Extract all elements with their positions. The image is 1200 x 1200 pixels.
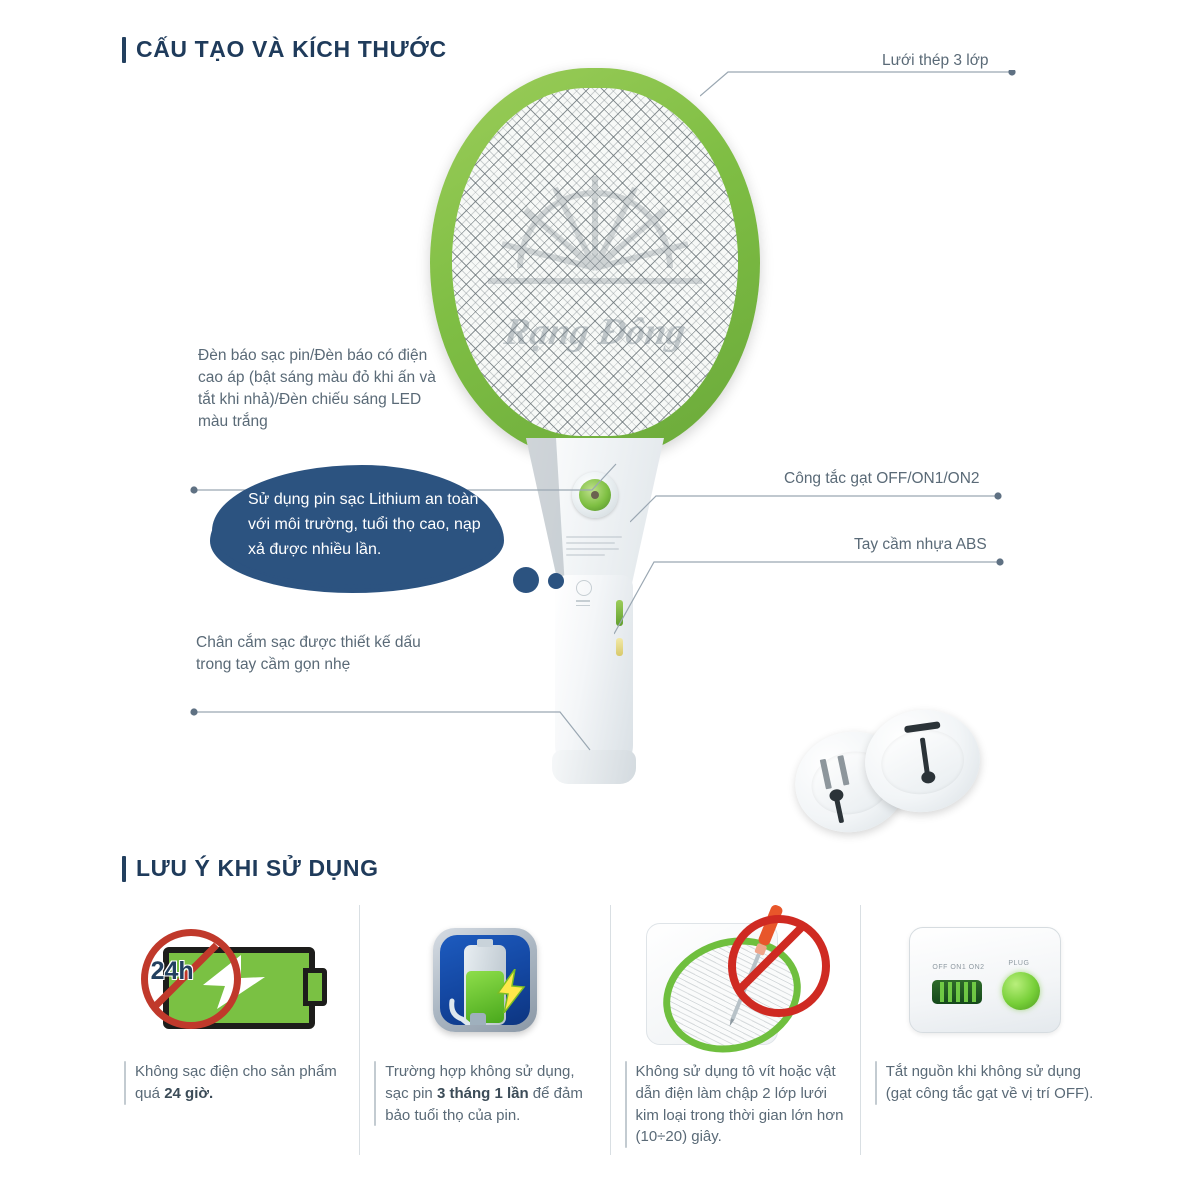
- callout-switch-label: Công tắc gạt OFF/ON1/ON2: [784, 468, 980, 490]
- note-text-4: Tắt nguồn khi không sử dụng (gạt công tắ…: [875, 1061, 1096, 1105]
- infographic-page: CẤU TẠO VÀ KÍCH THƯỚC: [0, 0, 1200, 1200]
- note-item-2: Trường hợp không sử dụng, sạc pin 3 thán…: [359, 905, 609, 1155]
- thought-bubble-dot-small: [548, 573, 564, 589]
- note-item-1: 24h Không sạc điện cho sản phẩm quá 24 g…: [110, 905, 359, 1155]
- battery-charge-app-icon: [433, 928, 537, 1032]
- battery-no-24h-icon: 24h: [145, 935, 325, 1025]
- app-tile-background: [440, 935, 530, 1025]
- section-heading-notes: LƯU Ý KHI SỬ DỤNG: [122, 855, 379, 882]
- thought-bubble-dot-large: [513, 567, 539, 593]
- note-item-4: OFF ON1 ON2 PLUG Tắt nguồn khi không sử …: [860, 905, 1110, 1155]
- prohibition-slash-2: [738, 925, 804, 991]
- badge-24h: 24h: [151, 957, 194, 986]
- panel-switch-label: OFF ON1 ON2: [932, 964, 984, 971]
- section-title-text: CẤU TẠO VÀ KÍCH THƯỚC: [136, 36, 447, 63]
- callout-handle-label: Tay cầm nhựa ABS: [854, 534, 987, 556]
- prohibition-circle-icon-2: [728, 915, 830, 1017]
- section-heading-structure: CẤU TẠO VÀ KÍCH THƯỚC: [122, 36, 447, 63]
- callout-mesh-label: Lưới thép 3 lớp: [882, 50, 989, 72]
- leader-line-mesh: [700, 70, 1020, 98]
- leader-line-switch: [630, 490, 1010, 524]
- section-title-text-2: LƯU Ý KHI SỬ DỤNG: [136, 855, 379, 882]
- note-text-1: Không sạc điện cho sản phẩm quá 24 giờ.: [124, 1061, 345, 1105]
- racket-frame: Rạng Đông: [430, 68, 760, 458]
- power-plug-icon: [448, 993, 492, 1025]
- note-icon-wrap-4: OFF ON1 ON2 PLUG: [875, 905, 1096, 1055]
- note-text-1-bold: 24 giờ.: [164, 1085, 213, 1102]
- thought-bubble-text: Sử dụng pin sạc Lithium an toàn với môi …: [248, 488, 484, 563]
- note-accent-bar-1: [124, 1061, 126, 1105]
- note-text-3: Không sử dụng tô vít hoặc vật dẫn điện l…: [625, 1061, 846, 1148]
- note-text-2: Trường hợp không sử dụng, sạc pin 3 thán…: [374, 1061, 595, 1126]
- callout-led-label: Đèn báo sạc pin/Đèn báo có điện cao áp (…: [198, 345, 438, 433]
- note-item-3: Không sử dụng tô vít hoặc vật dẫn điện l…: [610, 905, 860, 1155]
- note-text-2-bold: 3 tháng 1 lần: [437, 1085, 529, 1102]
- panel-plug-label: PLUG: [1008, 960, 1029, 967]
- heading-accent-bar: [122, 37, 126, 63]
- note-accent-bar-3: [625, 1061, 627, 1148]
- lightning-bolt-icon-2: [496, 969, 526, 1013]
- callout-plug-label: Chân cắm sạc được thiết kế dấu trong tay…: [196, 632, 456, 676]
- note-icon-wrap-1: 24h: [124, 905, 345, 1055]
- note-accent-bar-4: [875, 1061, 877, 1105]
- leader-line-plug: [188, 690, 598, 760]
- note-icon-wrap-2: [374, 905, 595, 1055]
- note-text-3-before: Không sử dụng tô vít hoặc vật dẫn điện l…: [636, 1063, 844, 1145]
- note-text-4-before: Tắt nguồn khi không sử dụng (gạt công tắ…: [886, 1063, 1094, 1102]
- slide-switch-icon: [932, 980, 982, 1004]
- plug-indicator-knob: [1002, 972, 1040, 1010]
- note-icon-wrap-3: [625, 905, 846, 1055]
- brand-watermark: Rạng Đông: [502, 310, 689, 354]
- note-accent-bar-2: [374, 1061, 376, 1126]
- switch-off-panel-icon: OFF ON1 ON2 PLUG: [909, 927, 1061, 1033]
- racket-mesh-area: Rạng Đông: [452, 88, 738, 436]
- battery-tip: [303, 968, 327, 1006]
- leader-line-handle: [614, 556, 1014, 636]
- battery-cap: [477, 939, 493, 947]
- handle-power-icon: [576, 580, 592, 596]
- usage-notes-row: 24h Không sạc điện cho sản phẩm quá 24 g…: [110, 905, 1110, 1155]
- handle-lines-icon: [576, 600, 590, 608]
- heading-accent-bar-2: [122, 856, 126, 882]
- product-illustration: Rạng Đông: [400, 60, 800, 780]
- no-screwdriver-racket-icon: [640, 895, 830, 1065]
- slide-switch-amber: [616, 638, 623, 656]
